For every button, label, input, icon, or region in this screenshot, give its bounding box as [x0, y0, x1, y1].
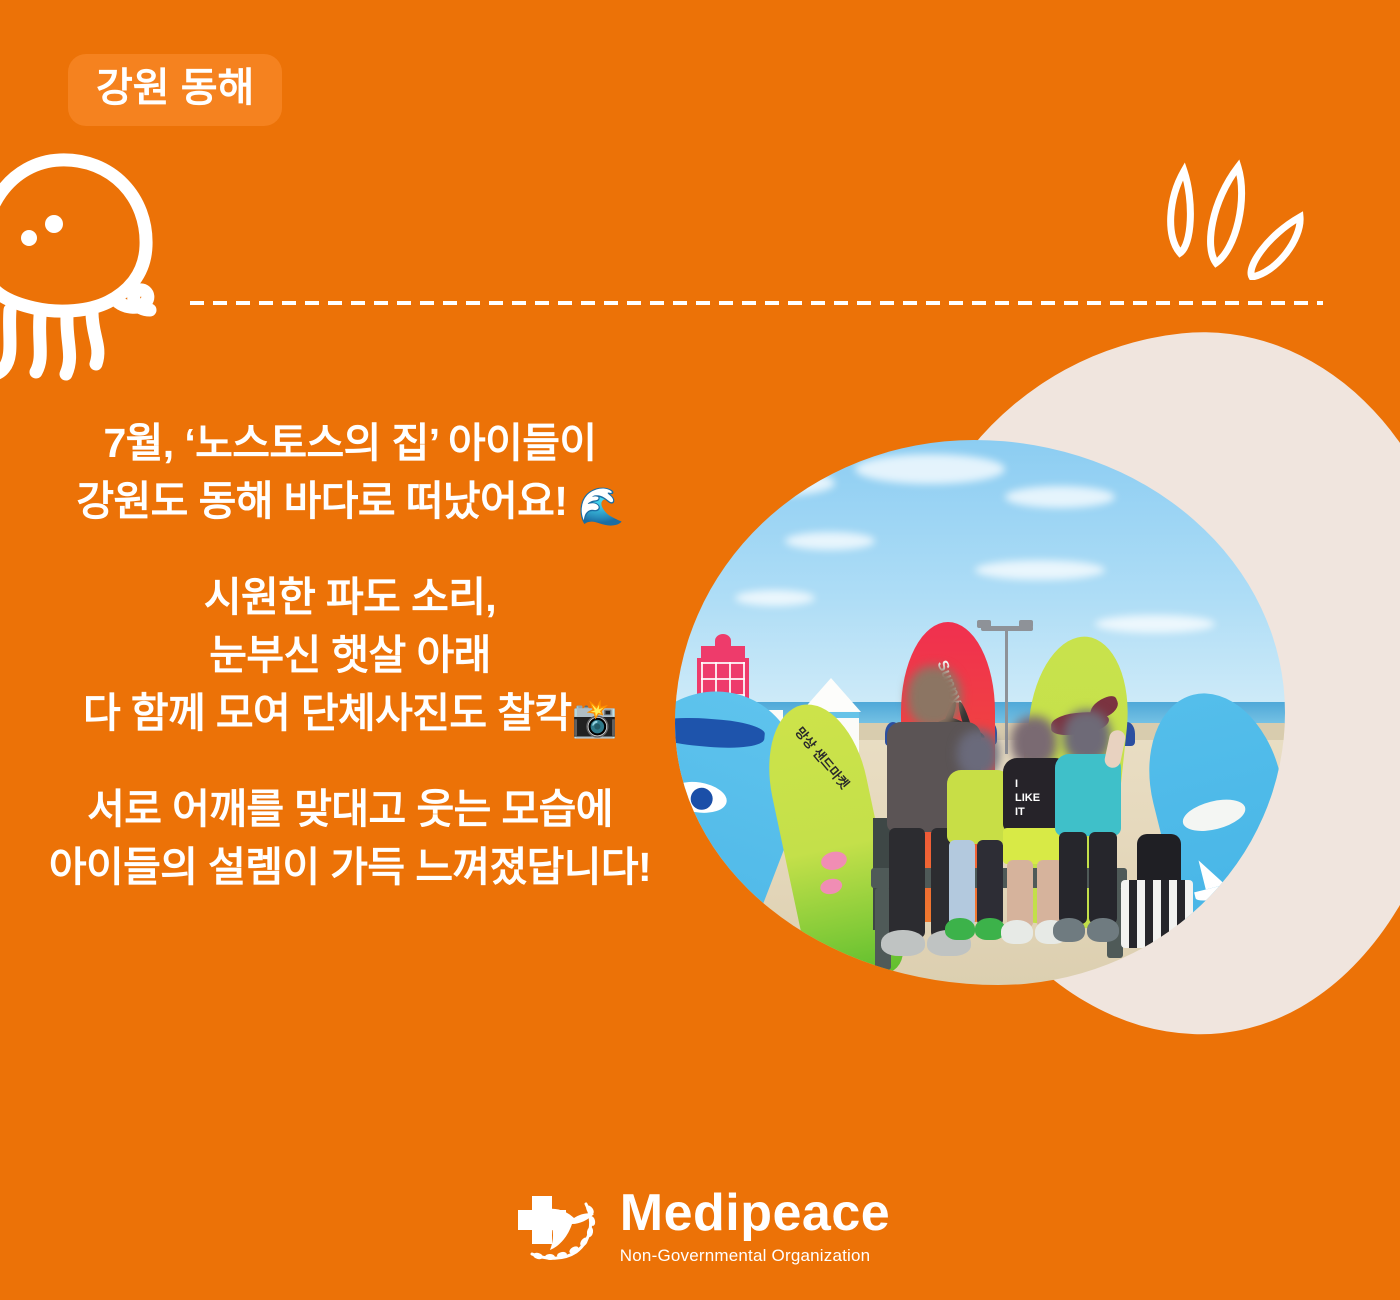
shirt-text: I LIKE IT — [1015, 778, 1040, 819]
cloud — [975, 560, 1105, 580]
dashed-divider — [190, 301, 1323, 305]
cloud-paint — [1180, 794, 1249, 837]
child-shoe — [1087, 918, 1119, 942]
copy-line: 눈부신 햇살 아래 — [0, 626, 700, 684]
cloud — [715, 470, 835, 496]
child-leg — [1059, 832, 1087, 924]
copy-line-text: 강원도 동해 바다로 떠났어요! — [76, 478, 567, 524]
lamp-post — [1005, 628, 1008, 754]
child-shoe — [1001, 920, 1033, 944]
cloud — [735, 590, 815, 606]
board-sticker — [819, 849, 848, 872]
blurred-face — [907, 666, 961, 728]
child-top — [947, 770, 1011, 844]
copy-line: 시원한 파도 소리, — [0, 568, 700, 626]
cloud — [785, 532, 875, 550]
copy-line-with-emoji: 다 함께 모여 단체사진도 찰칵📸 — [0, 684, 700, 746]
paragraph-1: 7월, ‘노스토스의 집’ 아이들이 강원도 동해 바다로 떠났어요! 🌊 — [0, 414, 700, 534]
logo-mark-icon — [510, 1186, 606, 1266]
striped-bag — [1121, 880, 1193, 948]
child-leg — [949, 840, 975, 926]
beach-group-photo: B B 망상 샌드마켓 Sunny — [675, 440, 1285, 985]
paragraph-3: 서로 어깨를 맞대고 웃는 모습에 아이들의 설렘이 가득 느껴졌답니다! — [0, 780, 700, 896]
sailboat-sail — [1199, 856, 1226, 890]
camera-flash-emoji: 📸 — [572, 698, 617, 739]
copy-line: 아이들의 설렘이 가득 느껴졌답니다! — [0, 838, 700, 896]
tower-finial — [715, 634, 731, 648]
board-text-line1: 망상 샌드마켓 — [791, 722, 854, 792]
child-leg — [1007, 860, 1033, 928]
leaf-strokes-icon — [1160, 155, 1330, 285]
medipeace-logo: Medipeace Non-Governmental Organization — [0, 1186, 1400, 1266]
logo-title: Medipeace — [620, 1187, 890, 1239]
cloud — [1005, 486, 1115, 508]
cloud — [1095, 615, 1215, 633]
paragraph-2: 시원한 파도 소리, 눈부신 햇살 아래 다 함께 모여 단체사진도 찰칵📸 — [0, 568, 700, 746]
body-copy: 7월, ‘노스토스의 집’ 아이들이 강원도 동해 바다로 떠났어요! 🌊 시원… — [0, 414, 700, 896]
lamp-head — [1019, 620, 1033, 628]
logo-wordmark: Medipeace Non-Governmental Organization — [620, 1187, 890, 1266]
region-badge-label: 강원 동해 — [96, 66, 254, 110]
region-badge: 강원 동해 — [68, 54, 282, 126]
wave-emoji: 🌊 — [578, 486, 623, 527]
child-leg — [977, 840, 1003, 926]
promo-card: 강원 동해 — [0, 0, 1400, 1300]
copy-line-with-emoji: 강원도 동해 바다로 떠났어요! 🌊 — [0, 472, 700, 534]
copy-line-text: 다 함께 모여 단체사진도 찰칵 — [83, 690, 572, 736]
child-shoe — [1053, 918, 1085, 942]
board-sticker — [819, 877, 844, 896]
logo-subtitle: Non-Governmental Organization — [620, 1246, 871, 1266]
adult-shoe — [881, 930, 925, 956]
adult-leg — [889, 828, 925, 938]
child-leg — [1089, 832, 1117, 924]
copy-line: 서로 어깨를 맞대고 웃는 모습에 — [0, 780, 700, 838]
cloud — [855, 454, 1005, 484]
copy-line: 7월, ‘노스토스의 집’ 아이들이 — [0, 414, 700, 472]
lamp-head — [977, 620, 991, 628]
child-shoe — [945, 918, 975, 940]
jellyfish-icon — [0, 150, 202, 400]
